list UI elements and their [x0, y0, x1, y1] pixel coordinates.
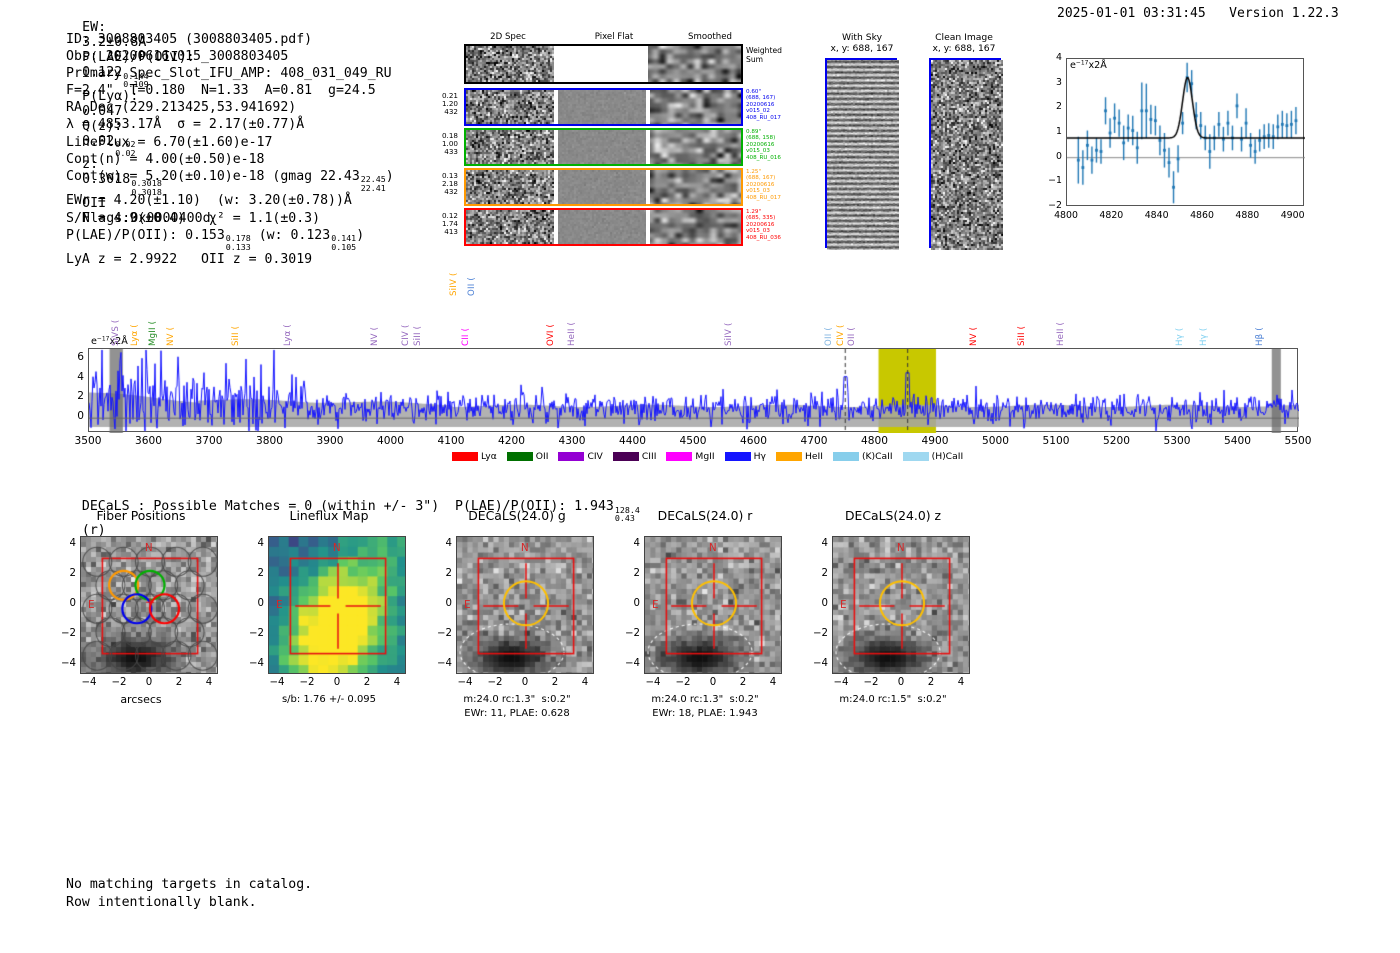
legend-label: Lyα [481, 451, 497, 462]
legend-swatch [452, 452, 478, 461]
cutout-title-decals-r: DECaLS(24.0) r [612, 508, 798, 523]
elfit-ytick: 1 [1044, 126, 1062, 137]
spectrum-line-label: Hγ ( [1199, 302, 1209, 346]
spectrum-line-label: SiVS ( [111, 302, 121, 346]
fullspec-xtick: 4900 [911, 435, 959, 447]
fullspec-axes [88, 348, 1298, 432]
cutout-xtick: −4 [454, 677, 476, 688]
cutout-canvas-decals-r [645, 537, 782, 674]
elfit-yunits: e−17x2Å [1070, 60, 1107, 71]
cutout-sub1: m:24.0 rc:1.3" s:0.2" [424, 693, 610, 706]
elfit-canvas [1067, 59, 1305, 207]
cutout-xtick: 4 [386, 677, 408, 688]
cutout-xtick: 0 [890, 677, 912, 688]
cutout-xtick: 4 [762, 677, 784, 688]
cutout-ytick: −4 [622, 658, 640, 669]
legend-item-hcaii: (H)CaII [903, 451, 964, 462]
spectrum-line-label: OII ( [824, 302, 834, 346]
compass-east: E [88, 599, 95, 611]
cutout-panel-decals-z: DECaLS(24.0) z−4−4−2−2002244NEm:24.0 rc:… [800, 508, 986, 738]
spectrum-line-label: SiII ( [231, 302, 241, 346]
cutout-ytick: 0 [810, 598, 828, 609]
with-sky-canvas [827, 60, 899, 250]
cutout-ytick: −2 [810, 628, 828, 639]
spectrum-line-label: HeII ( [1056, 302, 1066, 346]
legend-swatch [613, 452, 639, 461]
elfit-xtick: 4900 [1276, 210, 1310, 221]
cutout-title-decals-z: DECaLS(24.0) z [800, 508, 986, 523]
info-plae-lo: 0.133 [226, 243, 251, 251]
spec2d-row-0-stats: 0.21 1.20 432 [396, 92, 458, 116]
fullspec-xtick: 4300 [548, 435, 596, 447]
spec2d-row-0-2dspec [466, 90, 554, 124]
legend-item-ciii: CIII [613, 451, 657, 462]
cutout-sub2: EWr: 11, PLAE: 0.628 [424, 707, 610, 720]
fullspec-xtick: 5000 [972, 435, 1020, 447]
cutout-xtick: 2 [168, 677, 190, 688]
cutout-ytick: 0 [246, 598, 264, 609]
cutout-image-fiber-positions[interactable] [80, 536, 218, 674]
spectrum-line-label: Lyα ( [130, 302, 140, 346]
spec2d-row-2-panel [464, 168, 743, 206]
weighted-sum-2dspec [466, 46, 554, 82]
cutout-xtick: −4 [642, 677, 664, 688]
spec2d-row-3-pixelflat [558, 210, 646, 244]
gmag-lo: 22.41 [361, 184, 386, 192]
spec2d-row-1-stats: 0.18 1.00 433 [396, 132, 458, 156]
cutout-title-lineflux-map: Lineflux Map [236, 508, 422, 523]
info-line-lineflux: LineFlux = 6.70(±1.60)e-17 [66, 134, 394, 151]
spectrum-line-label: Hβ ( [1255, 302, 1265, 346]
elfit-xtick: 4880 [1230, 210, 1264, 221]
cutout-xtick: −2 [860, 677, 882, 688]
fullspec-xtick: 3500 [64, 435, 112, 447]
clean-image-image [929, 58, 1001, 248]
sky-cutout-group: With Sky x, y: 688, 167 Clean Image x, y… [812, 32, 1016, 257]
clean-image-title: Clean Image x, y: 688, 167 [916, 32, 1012, 54]
spectrum-line-label: SiII ( [1017, 302, 1027, 346]
compass-east: E [464, 599, 471, 611]
with-sky-image [825, 58, 897, 248]
compass-north: N [145, 542, 153, 554]
spec2d-row-2-smoothed [650, 170, 741, 204]
cutout-sub2: EWr: 18, PLAE: 1.943 [612, 707, 798, 720]
cutout-xtick: 2 [920, 677, 942, 688]
info-line-cont-w: Cont(w) = 5.20(±0.10)e-18 (gmag 22.4322.… [66, 168, 394, 193]
fullspec-xtick: 4800 [851, 435, 899, 447]
legend-item-oii: OII [507, 451, 549, 462]
spec2d-row-3-panel [464, 208, 743, 246]
cutout-ytick: 2 [434, 568, 452, 579]
spectrum-line-label: NV ( [166, 302, 176, 346]
elfit-axes [1066, 58, 1304, 206]
fullspec-xtick: 3800 [246, 435, 294, 447]
spectrum-line-label: Lyα ( [283, 302, 293, 346]
info-plae-w-lo: 0.105 [331, 243, 356, 251]
cutout-title-decals-g: DECaLS(24.0) g [424, 508, 610, 523]
cutout-xtick: 2 [544, 677, 566, 688]
spec2d-row-3-stats: 0.12 1.74 413 [396, 212, 458, 236]
spectrum-line-label: SiII ( [413, 302, 423, 346]
cutout-xtick: 0 [702, 677, 724, 688]
fullspec-xtick: 4400 [609, 435, 657, 447]
spec2d-row-2-meta: 1.25" (688, 167) 20200616 v015_03 408_RU… [746, 169, 781, 201]
spec2d-row-2-2dspec [466, 170, 554, 204]
legend-swatch [725, 452, 751, 461]
cutout-xtick: −2 [296, 677, 318, 688]
spec2d-row-3-2dspec [466, 210, 554, 244]
fullspec-xtick: 4600 [730, 435, 778, 447]
footer-line-2: Row intentionally blank. [66, 894, 312, 912]
spec2d-row-1-panel [464, 128, 743, 166]
cutout-xtick: −4 [830, 677, 852, 688]
fullspec-yunits: e−17x2Å [91, 336, 128, 347]
fullspec-ytick: 2 [70, 390, 84, 402]
fullspec-xtick: 4000 [367, 435, 415, 447]
fullspec-xtick: 5300 [1153, 435, 1201, 447]
with-sky-title: With Sky x, y: 688, 167 [814, 32, 910, 54]
cutout-image-lineflux-map[interactable] [268, 536, 406, 674]
info-line-redshift: LyA z = 2.9922 OII z = 0.3019 [66, 251, 394, 268]
cutout-sub1: m:24.0 rc:1.5" s:0.2" [800, 693, 986, 706]
compass-east: E [652, 599, 659, 611]
fullspec-canvas [89, 349, 1299, 433]
compass-north: N [897, 542, 905, 554]
cutout-ytick: 4 [246, 538, 264, 549]
spectrum-line-label: MgII ( [148, 302, 158, 346]
elfit-ytick: −2 [1044, 200, 1062, 211]
info-line-ewr: EWr = 4.20(±1.10) (w: 3.20(±0.78))Å [66, 192, 394, 209]
spectrum-line-label: CIV ( [836, 302, 846, 346]
info-line-plae: P(LAE)/P(OII): 0.1530.1780.133 (w: 0.123… [66, 227, 394, 252]
info-line-radec: RA,Dec (229.213425,53.941692) [66, 99, 394, 116]
cutout-ytick: 4 [58, 538, 76, 549]
compass-north: N [333, 542, 341, 554]
spec2d-row-2-pixelflat [558, 170, 646, 204]
cutout-image-decals-r[interactable] [644, 536, 782, 674]
fullspec-ytick: 4 [70, 371, 84, 383]
fullspec-xtick: 3700 [185, 435, 233, 447]
cutout-ytick: −2 [622, 628, 640, 639]
spec2d-row-3-meta: 1.29" (685, 335) 20200616 v015_03 408_RU… [746, 209, 781, 241]
cutout-ytick: −4 [58, 658, 76, 669]
cutout-image-decals-z[interactable] [832, 536, 970, 674]
cutout-xtick: −4 [78, 677, 100, 688]
cutout-ytick: 0 [58, 598, 76, 609]
spectrum-line-label: NV ( [969, 302, 979, 346]
legend-swatch [666, 452, 692, 461]
fullspec-ytick: 6 [70, 351, 84, 363]
cutout-canvas-fiber-positions [81, 537, 218, 674]
info-line-obs: Obs: 20200616v015_3008803405 [66, 48, 394, 65]
spectrum-line-label: OVI ( [546, 302, 556, 346]
legend-label: HeII [805, 451, 823, 462]
cutout-panel-fiber-positions: Fiber Positions−4−4−2−2002244NEarcsecs [48, 508, 234, 738]
spec2d-row-0-panel [464, 88, 743, 126]
spectrum-line-label: CIV ( [401, 302, 411, 346]
emission-line-fit-plot: e−17x2Å 480048204840486048804900 −2−1012… [1036, 52, 1304, 230]
elfit-xtick: 4820 [1094, 210, 1128, 221]
legend-swatch [507, 452, 533, 461]
fullspec-xtick: 5500 [1274, 435, 1322, 447]
cutout-row: Fiber Positions−4−4−2−2002244NEarcsecsLi… [48, 508, 1008, 738]
fullspec-xtick: 4700 [790, 435, 838, 447]
cutout-ytick: 4 [434, 538, 452, 549]
elfit-ytick: 2 [1044, 101, 1062, 112]
cutout-ytick: 2 [810, 568, 828, 579]
elfit-ytick: 0 [1044, 151, 1062, 162]
spectrum-line-label: SiIV ( [449, 252, 459, 296]
info-line-id: ID: 3008803405 (3008803405.pdf) [66, 31, 394, 48]
cutout-xtick: −4 [266, 677, 288, 688]
legend-item-mgii: MgII [666, 451, 714, 462]
legend-label: MgII [695, 451, 714, 462]
spec2d-row-1-smoothed [650, 130, 741, 164]
footer-line-1: No matching targets in catalog. [66, 876, 312, 894]
spectrum-legend: LyαOIICIVCIIIMgIIHγHeII(K)CaII(H)CaII [452, 451, 963, 462]
spec2d-row-1-2dspec [466, 130, 554, 164]
cutout-xtick: 0 [326, 677, 348, 688]
cutout-xtick: −2 [108, 677, 130, 688]
weighted-sum-label: Weighted Sum [746, 46, 782, 64]
cutout-xtick: 2 [732, 677, 754, 688]
spec2d-row-2-stats: 0.13 2.18 432 [396, 172, 458, 196]
legend-label: CIV [587, 451, 602, 462]
compass-east: E [276, 599, 283, 611]
cutout-ytick: 4 [622, 538, 640, 549]
elfit-ytick: 3 [1044, 77, 1062, 88]
cutout-image-decals-g[interactable] [456, 536, 594, 674]
cutout-xtick: 4 [574, 677, 596, 688]
legend-swatch [558, 452, 584, 461]
legend-swatch [776, 452, 802, 461]
cutout-sub1: s/b: 1.76 +/- 0.095 [236, 693, 422, 706]
cutout-ytick: −4 [810, 658, 828, 669]
cutout-xlabel: arcsecs [48, 693, 234, 706]
cutout-xtick: 2 [356, 677, 378, 688]
cutout-xtick: 4 [198, 677, 220, 688]
cutout-ytick: 2 [58, 568, 76, 579]
fullspec-xtick: 5400 [1214, 435, 1262, 447]
elfit-xtick: 4860 [1185, 210, 1219, 221]
col-title-2dspec: 2D Spec [458, 32, 558, 42]
legend-label: Hγ [754, 451, 766, 462]
cutout-ytick: 0 [434, 598, 452, 609]
full-spectrum-plot: e−17x2Å SiVS (Lyα (MgII (NV (SiII (Lyα (… [88, 348, 1298, 432]
legend-item-kcaii: (K)CaII [833, 451, 893, 462]
legend-label: CIII [642, 451, 657, 462]
spectrum-line-label: Hγ ( [1175, 302, 1185, 346]
cutout-canvas-decals-g [457, 537, 594, 674]
spec2d-row-3-smoothed [650, 210, 741, 244]
info-line-snr: S/N = 4.9(±0.4) χ² = 1.1(±0.3) [66, 210, 394, 227]
legend-item-civ: CIV [558, 451, 602, 462]
cutout-panel-decals-r: DECaLS(24.0) r−4−4−2−2002244NEm:24.0 rc:… [612, 508, 798, 738]
spec2d-row-0-meta: 0.60" (688, 167) 20200616 v015_02 408_RU… [746, 89, 781, 121]
clean-image-canvas [931, 60, 1003, 250]
compass-east: E [840, 599, 847, 611]
elfit-ytick: 4 [1044, 52, 1062, 63]
fullspec-xtick: 5100 [1032, 435, 1080, 447]
legend-swatch [903, 452, 929, 461]
elfit-ytick: −1 [1044, 175, 1062, 186]
col-title-pixelflat: Pixel Flat [564, 32, 664, 42]
legend-label: OII [536, 451, 549, 462]
cutout-xtick: 4 [950, 677, 972, 688]
cutout-sub1: m:24.0 rc:1.3" s:0.2" [612, 693, 798, 706]
legend-swatch [833, 452, 859, 461]
legend-label: (K)CaII [862, 451, 893, 462]
info-line-seeing: F=2.4" T=0.180 N=1.33 A=0.81 g=24.5 [66, 82, 394, 99]
spectrum-line-label: OII ( [847, 302, 857, 346]
cutout-ytick: −2 [434, 628, 452, 639]
cutout-ytick: −2 [58, 628, 76, 639]
fullspec-xtick: 4500 [669, 435, 717, 447]
legend-item-hγ: Hγ [725, 451, 766, 462]
cutout-ytick: 2 [246, 568, 264, 579]
spectrum-line-label: SiIV ( [724, 302, 734, 346]
fullspec-ytick: 0 [70, 410, 84, 422]
cutout-canvas-lineflux-map [269, 537, 406, 674]
info-line-ifu: Primary Spec_Slot_IFU_AMP: 408_031_049_R… [66, 65, 394, 82]
object-info-block: ID: 3008803405 (3008803405.pdf) Obs: 202… [66, 31, 394, 268]
cutout-ytick: −4 [434, 658, 452, 669]
cutout-xtick: 0 [138, 677, 160, 688]
spectrum-line-label: OII ( [467, 252, 477, 296]
weighted-sum-smoothed [648, 46, 741, 82]
weighted-sum-blank [556, 46, 646, 82]
col-title-smoothed: Smoothed [660, 32, 760, 42]
spec2d-row-1-meta: 0.89" (688, 158) 20200616 v015_03 408_RU… [746, 129, 781, 161]
fullspec-xtick: 5200 [1093, 435, 1141, 447]
cutout-ytick: 4 [810, 538, 828, 549]
cutout-ytick: −2 [246, 628, 264, 639]
cutout-xtick: −2 [672, 677, 694, 688]
footer-note: No matching targets in catalog. Row inte… [66, 876, 312, 911]
legend-item-heii: HeII [776, 451, 823, 462]
cutout-title-fiber-positions: Fiber Positions [48, 508, 234, 523]
compass-north: N [709, 542, 717, 554]
spec2d-row-0-smoothed [650, 90, 741, 124]
fullspec-xtick: 3900 [306, 435, 354, 447]
cutout-ytick: −4 [246, 658, 264, 669]
cutout-xtick: 0 [514, 677, 536, 688]
spectrum-line-label: HeII ( [567, 302, 577, 346]
legend-item-lyα: Lyα [452, 451, 497, 462]
fullspec-xtick: 3600 [125, 435, 173, 447]
cutout-xtick: −2 [484, 677, 506, 688]
weighted-sum-strip [464, 44, 743, 84]
info-line-cont-n: Cont(n) = 4.00(±0.50)e-18 [66, 151, 394, 168]
cutout-ytick: 2 [622, 568, 640, 579]
fullspec-xtick: 4100 [427, 435, 475, 447]
spec2d-row-0-pixelflat [558, 90, 646, 124]
spec2d-row-1-pixelflat [558, 130, 646, 164]
legend-label: (H)CaII [932, 451, 964, 462]
timestamp-version: 2025-01-01 03:31:45 Version 1.22.3 [1057, 6, 1339, 21]
info-line-lambda: λ = 4853.17Å σ = 2.17(±0.77)Å [66, 116, 394, 133]
elfit-xtick: 4840 [1140, 210, 1174, 221]
elfit-xtick: 4800 [1049, 210, 1083, 221]
compass-north: N [521, 542, 529, 554]
spectrum-line-label: CII ( [461, 302, 471, 346]
fullspec-xtick: 4200 [488, 435, 536, 447]
cutout-panel-lineflux-map: Lineflux Map−4−4−2−2002244NEs/b: 1.76 +/… [236, 508, 422, 738]
two-d-spec-panel-group: 2D Spec Pixel Flat Smoothed Weighted Sum… [424, 32, 754, 257]
cutout-canvas-decals-z [833, 537, 970, 674]
spectrum-line-label: NV ( [370, 302, 380, 346]
cutout-ytick: 0 [622, 598, 640, 609]
cutout-panel-decals-g: DECaLS(24.0) g−4−4−2−2002244NEm:24.0 rc:… [424, 508, 610, 738]
